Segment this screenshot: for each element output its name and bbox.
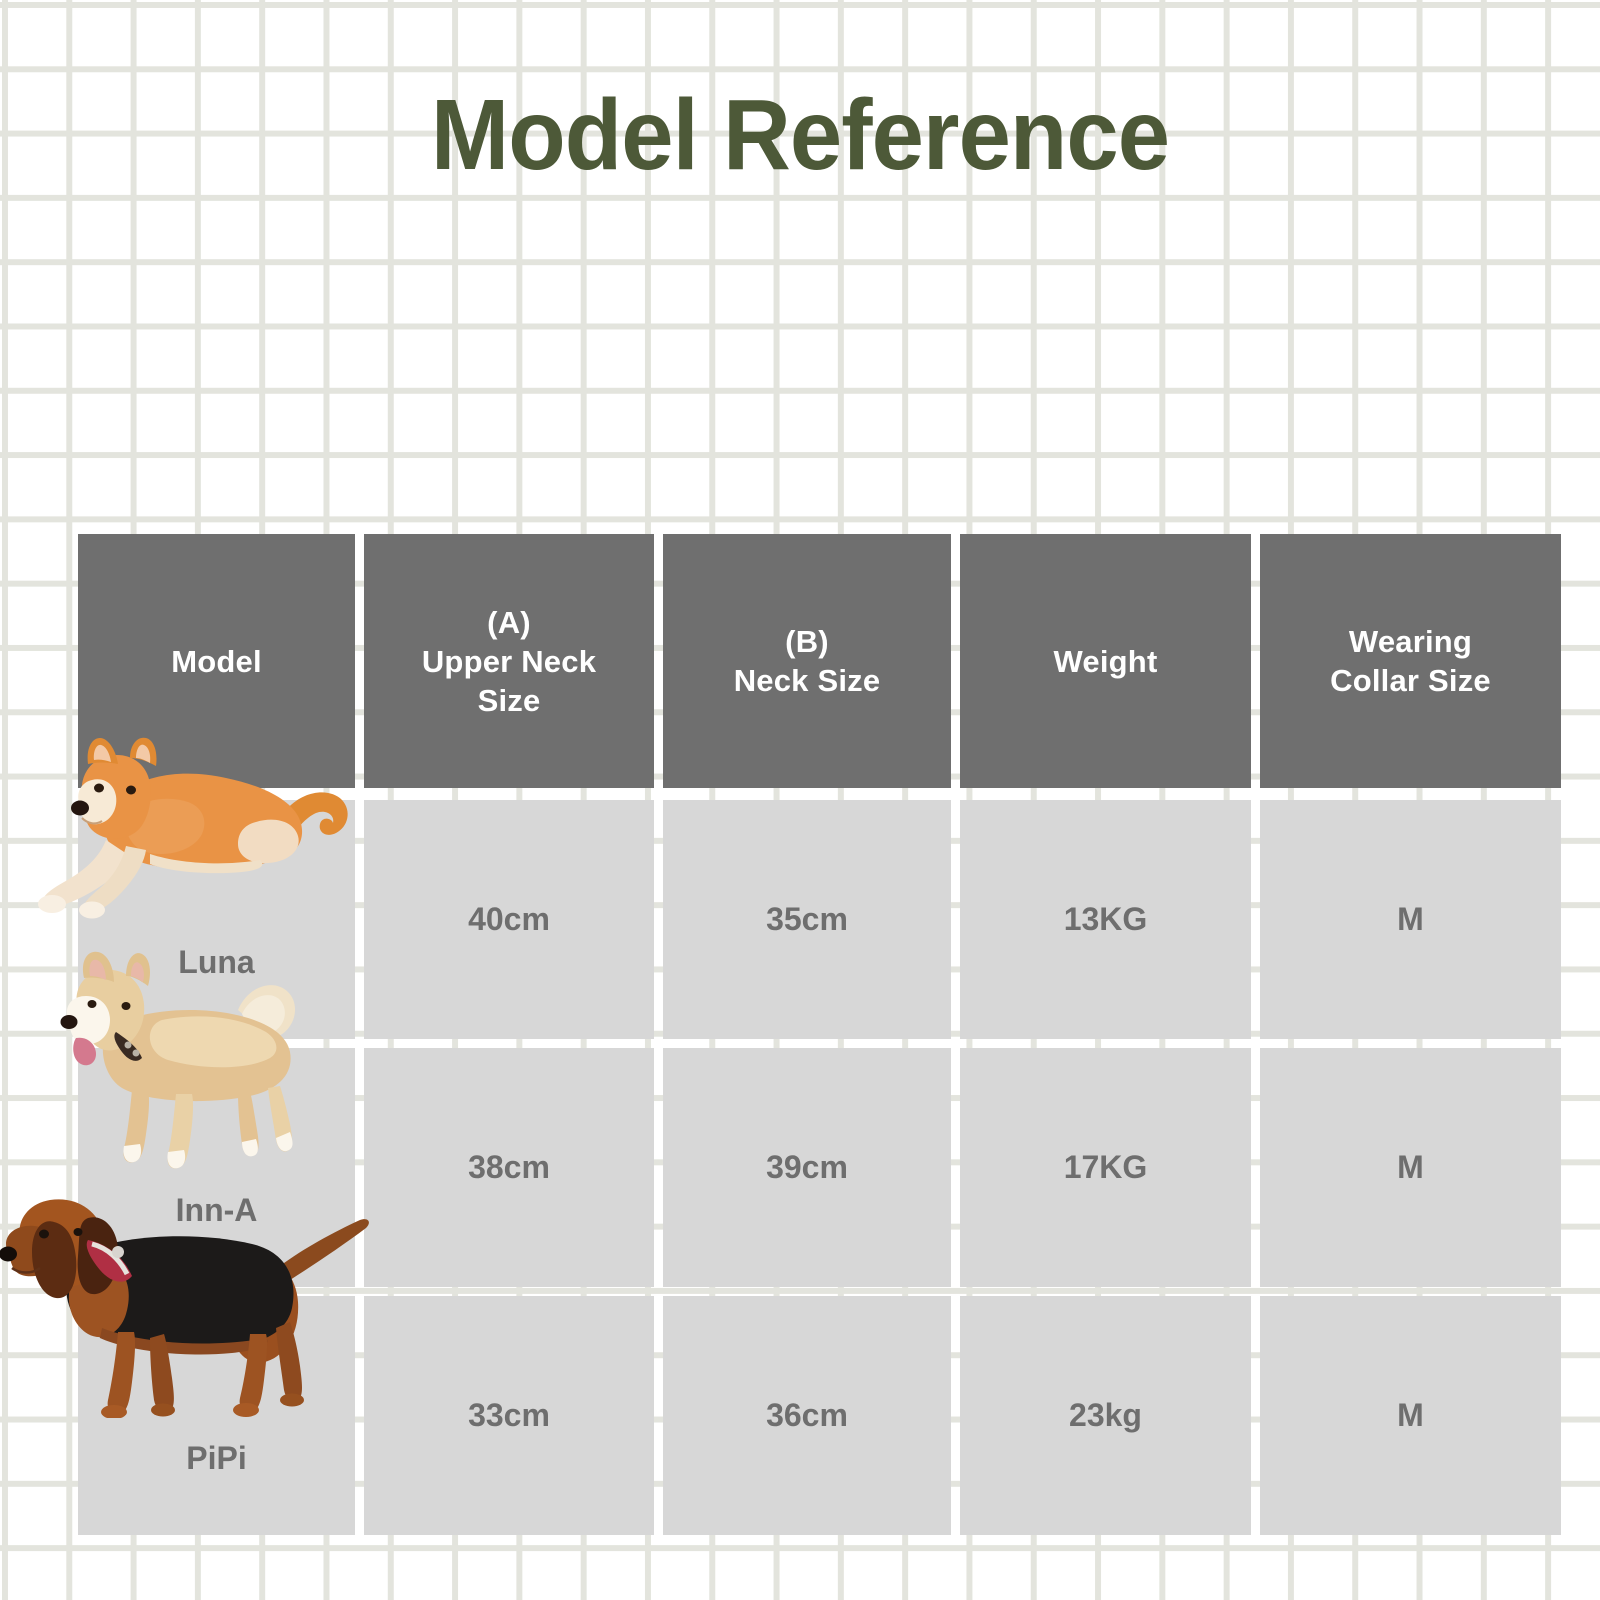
cell-gap xyxy=(951,800,960,1039)
column-header-weight-label: Weight xyxy=(1054,642,1158,681)
model-name-label: Luna xyxy=(178,944,254,981)
page-root: Model Reference Model (A) Upper Neck Siz… xyxy=(0,0,1600,1600)
column-header-upper-neck-line2: Upper Neck xyxy=(422,642,596,681)
cell-neck-size: 39cm xyxy=(663,1048,951,1287)
cell-gap xyxy=(654,1296,663,1535)
row-gap xyxy=(78,1287,1552,1296)
table-row[interactable]: Luna 40cm 35cm 13KG M xyxy=(78,800,1552,1039)
header-gap xyxy=(951,534,960,788)
column-header-collar-line2: Collar Size xyxy=(1330,661,1491,700)
cell-gap xyxy=(355,1048,364,1287)
eye xyxy=(39,1230,49,1239)
table-row[interactable]: PiPi 33cm 36cm 23kg M xyxy=(78,1296,1552,1535)
cell-weight: 23kg xyxy=(960,1296,1251,1535)
cell-neck-size: 35cm xyxy=(663,800,951,1039)
cell-gap xyxy=(355,1296,364,1535)
page-title: Model Reference xyxy=(48,82,1552,188)
cell-wearing-collar-size: M xyxy=(1260,800,1561,1039)
cell-weight: 13KG xyxy=(960,800,1251,1039)
table-row[interactable]: Inn-A 38cm 39cm 17KG M xyxy=(78,1048,1552,1287)
cell-upper-neck-size: 40cm xyxy=(364,800,654,1039)
column-header-model-label: Model xyxy=(171,642,262,681)
cell-gap xyxy=(951,1048,960,1287)
column-header-wearing-collar-size: Wearing Collar Size xyxy=(1260,534,1561,788)
model-reference-table: Model (A) Upper Neck Size (B) Neck Size … xyxy=(78,534,1552,1535)
cell-gap xyxy=(654,800,663,1039)
cell-gap xyxy=(1251,1048,1260,1287)
column-header-upper-neck-line1: (A) xyxy=(422,603,596,642)
cell-wearing-collar-size: M xyxy=(1260,1048,1561,1287)
column-header-collar-line1: Wearing xyxy=(1330,622,1491,661)
column-header-neck-line2: Neck Size xyxy=(734,661,881,700)
cell-upper-neck-size: 33cm xyxy=(364,1296,654,1535)
nose xyxy=(0,1247,17,1262)
cell-gap xyxy=(1251,800,1260,1039)
cell-weight: 17KG xyxy=(960,1048,1251,1287)
table-body: Luna 40cm 35cm 13KG M Inn-A 38cm xyxy=(78,800,1552,1535)
cell-gap xyxy=(1251,1296,1260,1535)
model-name-label: Inn-A xyxy=(176,1192,258,1229)
table-header-row: Model (A) Upper Neck Size (B) Neck Size … xyxy=(78,534,1552,788)
column-header-upper-neck-line3: Size xyxy=(422,681,596,720)
cell-gap xyxy=(355,800,364,1039)
header-gap xyxy=(654,534,663,788)
cell-model: Inn-A xyxy=(78,1048,355,1287)
header-gap xyxy=(355,534,364,788)
column-header-upper-neck-size: (A) Upper Neck Size xyxy=(364,534,654,788)
header-gap xyxy=(1251,534,1260,788)
cell-wearing-collar-size: M xyxy=(1260,1296,1561,1535)
column-header-weight: Weight xyxy=(960,534,1251,788)
column-header-neck-line1: (B) xyxy=(734,622,881,661)
cell-model: Luna xyxy=(78,800,355,1039)
cell-gap xyxy=(951,1296,960,1535)
cell-neck-size: 36cm xyxy=(663,1296,951,1535)
column-header-neck-size: (B) Neck Size xyxy=(663,534,951,788)
column-header-model: Model xyxy=(78,534,355,788)
cell-upper-neck-size: 38cm xyxy=(364,1048,654,1287)
row-gap xyxy=(78,1039,1552,1048)
cell-gap xyxy=(654,1048,663,1287)
nose xyxy=(61,1015,78,1029)
cell-model: PiPi xyxy=(78,1296,355,1535)
model-name-label: PiPi xyxy=(186,1440,246,1477)
